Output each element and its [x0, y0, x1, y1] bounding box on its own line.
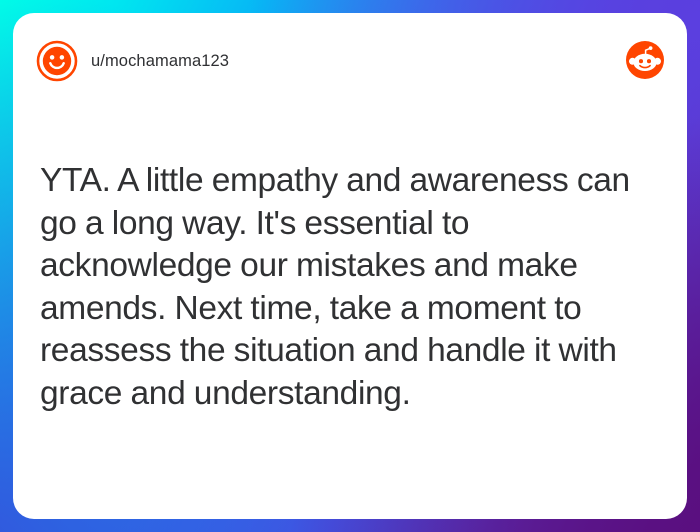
post-author-username[interactable]: u/mochamama123 [91, 53, 229, 70]
post-body-text: YTA. A little empathy and awareness can … [40, 160, 657, 415]
reddit-post-card: u/mochamama123 [13, 13, 687, 519]
smiley-face-avatar-icon[interactable] [36, 40, 78, 82]
post-header: u/mochamama123 [13, 39, 687, 83]
gradient-background: u/mochamama123 [0, 0, 700, 532]
reddit-snoo-icon[interactable] [625, 40, 665, 80]
